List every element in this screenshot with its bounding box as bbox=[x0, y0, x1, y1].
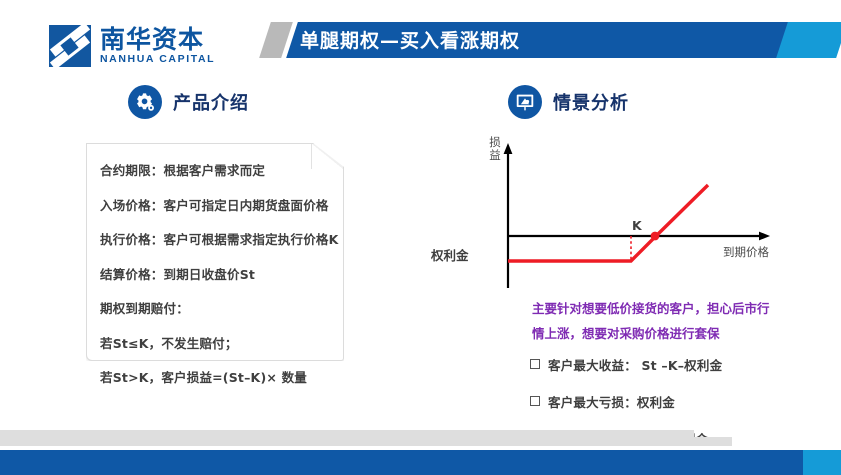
premium-label: 权利金 bbox=[431, 245, 469, 264]
section-heading-scenario: 情景分析 bbox=[508, 85, 629, 119]
y-axis-label: 损益 bbox=[488, 136, 502, 162]
footer-gray-bar-lower bbox=[0, 437, 732, 446]
bullet-label: 客户最大收益： St –K–权利金 bbox=[548, 355, 722, 374]
scenario-description-line: 情上涨，想要对采购价格进行套保 bbox=[532, 321, 837, 346]
y-axis-arrowhead bbox=[504, 143, 513, 154]
logo-english-name: NANHUA CAPITAL bbox=[100, 54, 215, 65]
note-line: 合约期限：根据客户需求而定 bbox=[100, 160, 350, 179]
brand-logo: 南华资本 NANHUA CAPITAL bbox=[49, 25, 215, 67]
payoff-chart-svg bbox=[420, 125, 841, 295]
footer-blue-accent bbox=[803, 450, 841, 475]
payoff-line bbox=[508, 185, 708, 261]
strike-label-k: K bbox=[632, 218, 642, 233]
note-line: 结算价格：到期日收盘价St bbox=[100, 264, 350, 283]
bullet-label: 客户最大亏损：权利金 bbox=[548, 392, 675, 411]
list-item: 客户最大收益： St –K–权利金 bbox=[530, 355, 840, 374]
logo-chinese-name: 南华资本 bbox=[100, 27, 215, 52]
presentation-board-icon bbox=[508, 85, 542, 119]
breakeven-point-marker bbox=[651, 232, 660, 241]
slide-header: 南华资本 NANHUA CAPITAL 单腿期权—买入看涨期权 bbox=[0, 0, 841, 80]
note-line: 入场价格：客户可指定日内期货盘面价格 bbox=[100, 195, 350, 214]
square-bullet-icon bbox=[530, 396, 540, 406]
page-title: 单腿期权—买入看涨期权 bbox=[300, 27, 680, 55]
note-line: 若St>K，客户损益=(St–K)× 数量 bbox=[100, 367, 350, 386]
note-line: 期权到期赔付： bbox=[100, 298, 350, 317]
section-label-product: 产品介绍 bbox=[173, 89, 249, 115]
scenario-description: 主要针对想要低价接货的客户，担心后市行 情上涨，想要对采购价格进行套保 bbox=[532, 296, 837, 346]
payoff-chart: 损益 到期价格 K 权利金 bbox=[420, 125, 841, 295]
note-line: 执行价格：客户可根据需求指定执行价格K bbox=[100, 229, 350, 248]
x-axis-arrowhead bbox=[759, 232, 770, 241]
gear-icon bbox=[128, 85, 162, 119]
scenario-description-line: 主要针对想要低价接货的客户，担心后市行 bbox=[532, 296, 837, 321]
section-heading-product: 产品介绍 bbox=[128, 85, 249, 119]
square-bullet-icon bbox=[530, 359, 540, 369]
footer-blue-bar bbox=[0, 450, 803, 475]
x-axis-label: 到期价格 bbox=[723, 244, 769, 260]
title-banner-accent bbox=[776, 22, 841, 58]
nanhua-logo-mark-icon bbox=[49, 25, 91, 67]
section-label-scenario: 情景分析 bbox=[553, 89, 629, 115]
note-line: 若St≤K，不发生赔付； bbox=[100, 333, 350, 352]
product-note-list: 合约期限：根据客户需求而定 入场价格：客户可指定日内期货盘面价格 执行价格：客户… bbox=[100, 160, 350, 402]
list-item: 客户最大亏损：权利金 bbox=[530, 392, 840, 411]
